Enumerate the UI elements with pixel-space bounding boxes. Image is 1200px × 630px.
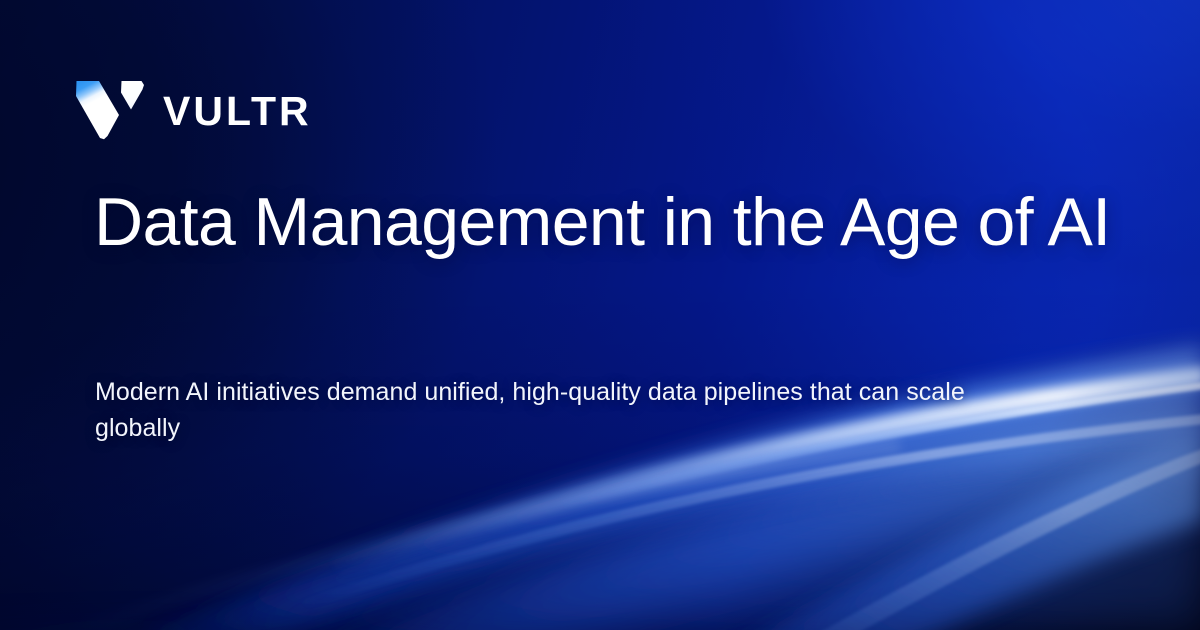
page-title: Data Management in the Age of AI bbox=[94, 186, 1134, 259]
card-content: VULTR Data Management in the Age of AI M… bbox=[0, 0, 1200, 630]
vultr-logo-lockup[interactable]: VULTR bbox=[74, 74, 312, 146]
vultr-v-mark-icon bbox=[74, 74, 146, 146]
page-subtitle: Modern AI initiatives demand unified, hi… bbox=[95, 374, 1055, 446]
og-card: VULTR Data Management in the Age of AI M… bbox=[0, 0, 1200, 630]
vultr-wordmark: VULTR bbox=[163, 91, 312, 132]
